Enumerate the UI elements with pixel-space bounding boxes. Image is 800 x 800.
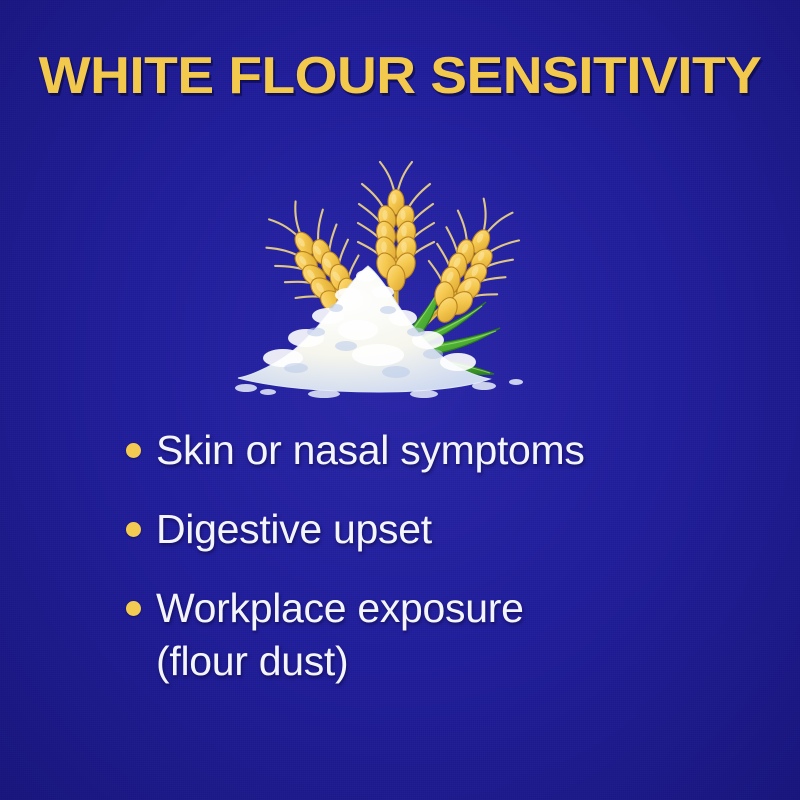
list-item: Digestive upset	[126, 503, 766, 556]
symptom-list: Skin or nasal symptoms Digestive upset W…	[126, 424, 766, 714]
bullet-dot-icon	[126, 443, 141, 458]
list-item-label-line2: (flour dust)	[156, 635, 524, 688]
list-item-label: Skin or nasal symptoms	[156, 424, 585, 477]
list-item-label-line1: Workplace exposure	[156, 585, 524, 631]
infographic-poster: WHITE FLOUR SENSITIVITY	[0, 0, 800, 800]
wheat-and-flour-illustration	[228, 140, 572, 402]
list-item-label-wrapped: Workplace exposure (flour dust)	[156, 582, 524, 688]
list-item-label: Digestive upset	[156, 503, 432, 556]
list-item: Workplace exposure (flour dust)	[126, 582, 766, 688]
bullet-dot-icon	[126, 522, 141, 537]
list-item: Skin or nasal symptoms	[126, 424, 766, 477]
bullet-dot-icon	[126, 601, 141, 616]
page-title: WHITE FLOUR SENSITIVITY	[0, 48, 800, 104]
